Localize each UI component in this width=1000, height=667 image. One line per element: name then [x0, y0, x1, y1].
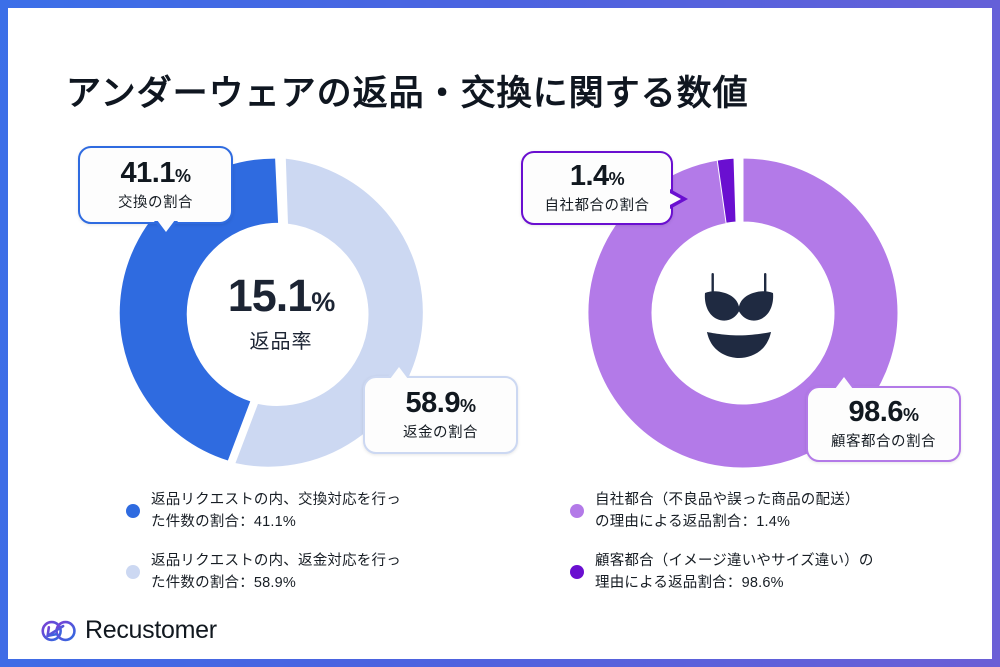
- callout-company-value: 1.4%: [570, 161, 624, 191]
- legend-item-label: 自社都合（不良品や誤った商品の配送）の理由による返品割合：1.4%: [595, 489, 860, 534]
- legend-item-label: 返品リクエストの内、返金対応を行った件数の割合：58.9%: [151, 550, 401, 595]
- callout-refund-label: 返金の割合: [403, 421, 478, 442]
- legend-item[interactable]: 自社都合（不良品や誤った商品の配送）の理由による返品割合：1.4%: [570, 489, 940, 534]
- legend-right: 自社都合（不良品や誤った商品の配送）の理由による返品割合：1.4% 顧客都合（イ…: [570, 489, 940, 611]
- callout-company-tail-inner: [668, 192, 681, 206]
- callout-customer-tail-inner: [835, 377, 853, 389]
- legend-color-dot: [570, 504, 584, 518]
- callout-exchange[interactable]: 41.1% 交換の割合: [78, 146, 233, 224]
- callout-refund-tail-inner: [390, 367, 408, 379]
- callout-customer-value: 98.6%: [849, 397, 919, 427]
- callout-company-reason[interactable]: 1.4% 自社都合の割合: [521, 151, 673, 225]
- legend-color-dot: [126, 504, 140, 518]
- legend-item[interactable]: 顧客都合（イメージ違いやサイズ違い）の理由による返品割合：98.6%: [570, 550, 940, 595]
- callout-customer-reason[interactable]: 98.6% 顧客都合の割合: [806, 386, 961, 462]
- page-title: アンダーウェアの返品・交換に関する数値: [66, 65, 749, 116]
- infinity-icon: [41, 618, 77, 644]
- callout-refund-value: 58.9%: [406, 388, 476, 418]
- callout-company-label: 自社都合の割合: [545, 194, 650, 215]
- callout-customer-label: 顧客都合の割合: [831, 430, 936, 451]
- legend-color-dot: [570, 565, 584, 579]
- callout-exchange-label: 交換の割合: [118, 191, 193, 212]
- page-background: アンダーウェアの返品・交換に関する数値 15.1% 返品率: [0, 0, 1000, 667]
- legend-color-dot: [126, 565, 140, 579]
- brand-logo[interactable]: Recustomer: [41, 616, 217, 645]
- callout-exchange-value: 41.1%: [121, 158, 191, 188]
- legend-left: 返品リクエストの内、交換対応を行った件数の割合：41.1% 返品リクエストの内、…: [126, 489, 456, 611]
- callout-exchange-tail-inner: [157, 220, 175, 232]
- callout-refund[interactable]: 58.9% 返金の割合: [363, 376, 518, 454]
- content-card: アンダーウェアの返品・交換に関する数値 15.1% 返品率: [8, 8, 992, 659]
- brand-name: Recustomer: [85, 616, 217, 645]
- legend-item[interactable]: 返品リクエストの内、返金対応を行った件数の割合：58.9%: [126, 550, 456, 595]
- legend-item-label: 顧客都合（イメージ違いやサイズ違い）の理由による返品割合：98.6%: [595, 550, 874, 595]
- legend-item-label: 返品リクエストの内、交換対応を行った件数の割合：41.1%: [151, 489, 401, 534]
- legend-item[interactable]: 返品リクエストの内、交換対応を行った件数の割合：41.1%: [126, 489, 456, 534]
